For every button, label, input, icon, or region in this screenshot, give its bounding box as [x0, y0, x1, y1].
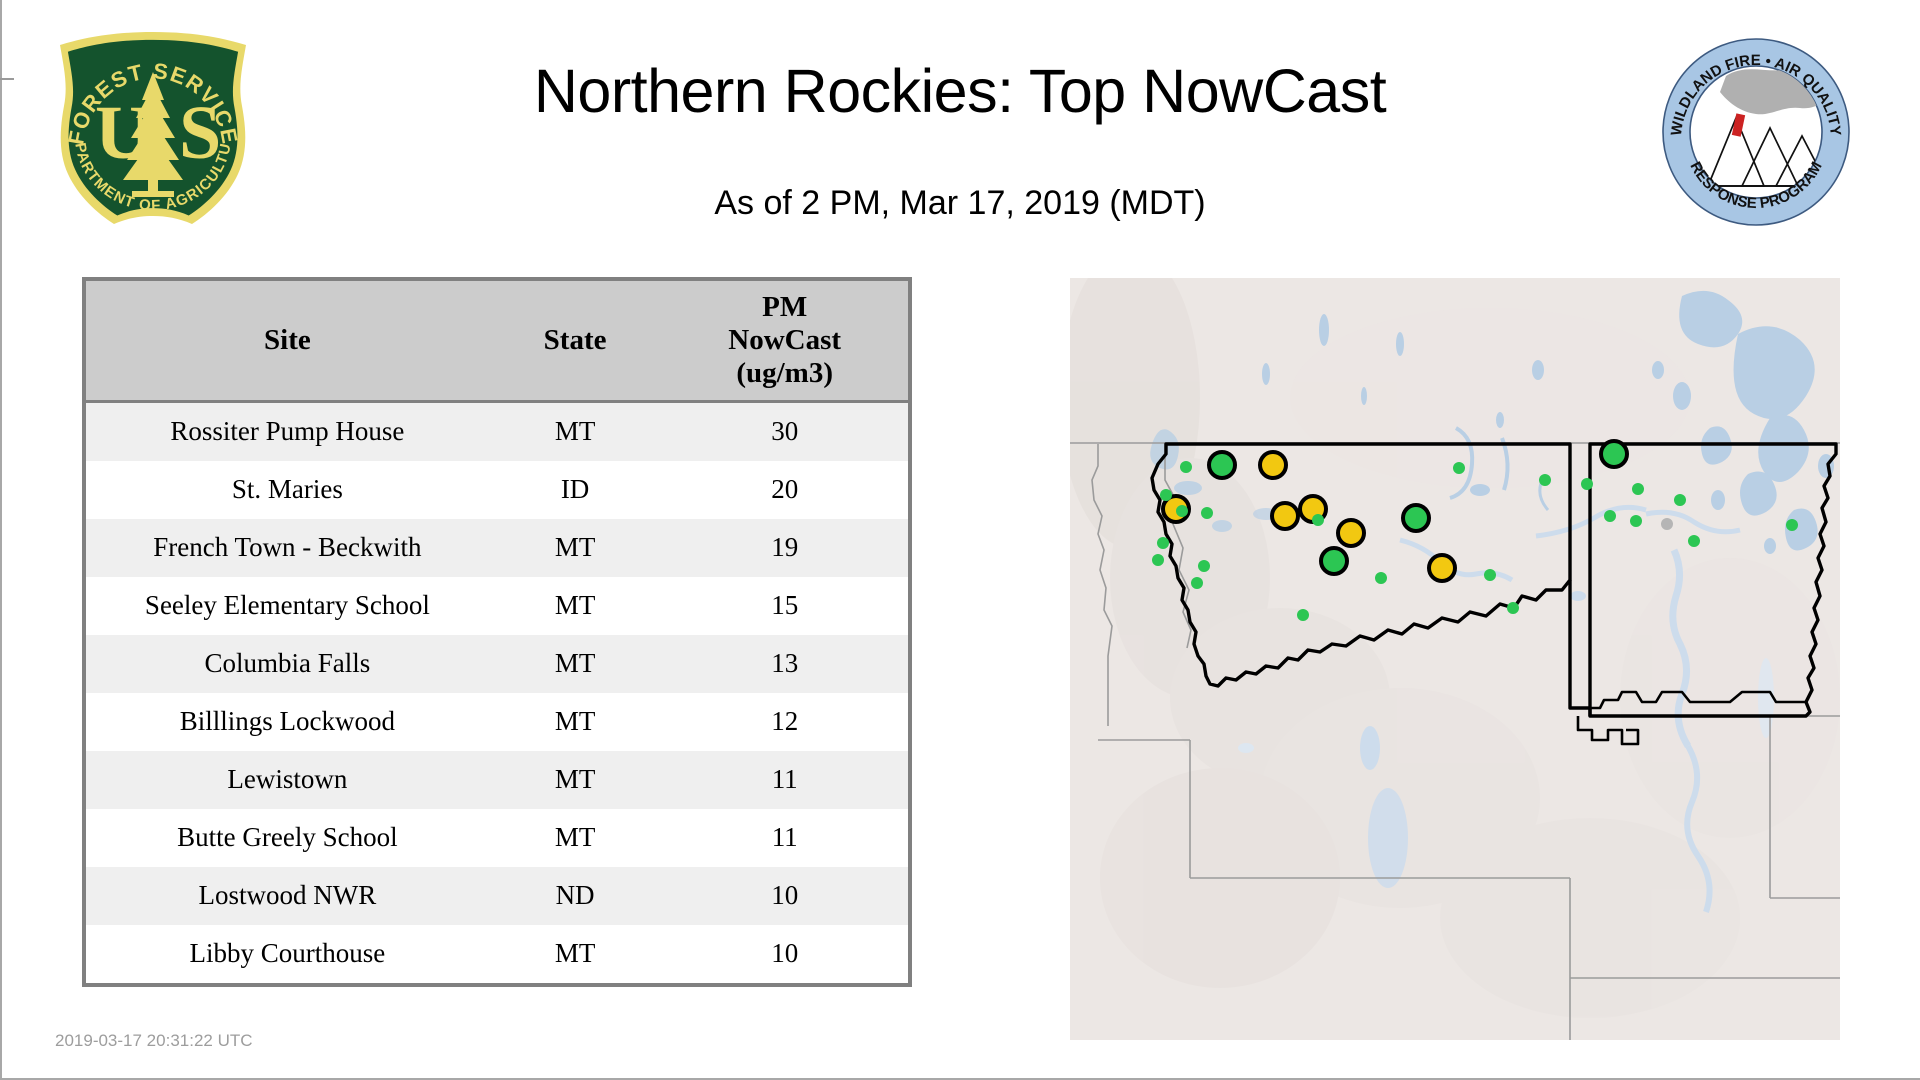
table-row: Lostwood NWRND10	[86, 867, 908, 925]
map-sensor-dot-small[interactable]	[1201, 507, 1213, 519]
column-header-pm-nowcast: PM NowCast (ug/m3)	[661, 281, 908, 401]
table-cell-state: MT	[489, 925, 662, 983]
table-cell-site: French Town - Beckwith	[86, 519, 489, 577]
table-cell-state: ID	[489, 461, 662, 519]
footer-timestamp: 2019-03-17 20:31:22 UTC	[55, 1031, 253, 1051]
map-sensor-dot-small[interactable]	[1688, 535, 1700, 547]
table-cell-state: MT	[489, 751, 662, 809]
map-panel[interactable]	[1070, 278, 1840, 1040]
map-monitor-marker-large[interactable]	[1260, 452, 1286, 478]
map-monitor-marker-large[interactable]	[1321, 548, 1347, 574]
table-cell-value: 19	[661, 519, 908, 577]
table-cell-site: Rossiter Pump House	[86, 401, 489, 461]
table-cell-site: Billlings Lockwood	[86, 693, 489, 751]
table-row: Rossiter Pump HouseMT30	[86, 401, 908, 461]
map-sensor-dot-small[interactable]	[1375, 572, 1387, 584]
table-cell-state: MT	[489, 635, 662, 693]
map-monitor-marker-large[interactable]	[1429, 555, 1455, 581]
table-cell-site: Butte Greely School	[86, 809, 489, 867]
table-cell-value: 30	[661, 401, 908, 461]
nowcast-table-container: Site State PM NowCast (ug/m3) Rossiter P…	[82, 277, 912, 987]
map-sensor-dot-small[interactable]	[1180, 461, 1192, 473]
table-row: LewistownMT11	[86, 751, 908, 809]
table-cell-value: 10	[661, 925, 908, 983]
table-cell-value: 20	[661, 461, 908, 519]
map-sensor-dot-small[interactable]	[1453, 462, 1465, 474]
map-sensor-dot-small[interactable]	[1152, 554, 1164, 566]
map-sensor-dot-small[interactable]	[1484, 569, 1496, 581]
table-header: Site State PM NowCast (ug/m3)	[86, 281, 908, 401]
map-sensor-dot-small[interactable]	[1786, 519, 1798, 531]
page-border-left	[0, 0, 2, 1080]
map-svg[interactable]	[1070, 278, 1840, 1040]
page-edge-tick	[0, 78, 14, 80]
map-sensor-dot-small[interactable]	[1604, 510, 1616, 522]
map-monitor-marker-large[interactable]	[1209, 452, 1235, 478]
table-cell-value: 15	[661, 577, 908, 635]
map-monitor-marker-large[interactable]	[1601, 441, 1627, 467]
table-header-row: Site State PM NowCast (ug/m3)	[86, 281, 908, 401]
table-cell-value: 10	[661, 867, 908, 925]
map-sensor-dot-small[interactable]	[1157, 537, 1169, 549]
map-sensor-dot-small[interactable]	[1160, 489, 1172, 501]
page-subtitle: As of 2 PM, Mar 17, 2019 (MDT)	[300, 184, 1620, 223]
table-cell-value: 11	[661, 751, 908, 809]
map-sensor-dot-small[interactable]	[1176, 505, 1188, 517]
map-sensor-dot-small[interactable]	[1297, 609, 1309, 621]
table-cell-value: 11	[661, 809, 908, 867]
map-monitor-marker-large[interactable]	[1403, 505, 1429, 531]
map-sensor-dot-small[interactable]	[1191, 577, 1203, 589]
table-body: Rossiter Pump HouseMT30St. MariesID20Fre…	[86, 401, 908, 983]
usda-forest-service-shield-logo: FOREST SERVICE DEPARTMENT OF AGRICULTURE…	[48, 28, 258, 233]
nowcast-table: Site State PM NowCast (ug/m3) Rossiter P…	[86, 281, 908, 983]
table-cell-site: Libby Courthouse	[86, 925, 489, 983]
fs-logo-letter-s: S	[179, 91, 221, 175]
table-row: Butte Greely SchoolMT11	[86, 809, 908, 867]
table-row: Seeley Elementary SchoolMT15	[86, 577, 908, 635]
column-header-site: Site	[86, 281, 489, 401]
wildland-fire-air-quality-logo: WILDLAND FIRE • AIR QUALITY RESPONSE PRO…	[1660, 36, 1852, 228]
table-cell-state: MT	[489, 693, 662, 751]
table-cell-state: ND	[489, 867, 662, 925]
table-cell-site: Lostwood NWR	[86, 867, 489, 925]
column-header-state: State	[489, 281, 662, 401]
map-sensor-dot-small[interactable]	[1198, 560, 1210, 572]
table-cell-state: MT	[489, 809, 662, 867]
table-cell-site: Columbia Falls	[86, 635, 489, 693]
map-sensor-dot-small[interactable]	[1674, 494, 1686, 506]
table-cell-site: St. Maries	[86, 461, 489, 519]
column-header-pm-line1: PM	[665, 291, 904, 324]
table-row: Billlings LockwoodMT12	[86, 693, 908, 751]
table-row: Columbia FallsMT13	[86, 635, 908, 693]
column-header-pm-line3: (ug/m3)	[665, 357, 904, 390]
table-row: French Town - BeckwithMT19	[86, 519, 908, 577]
map-sensor-dot-small[interactable]	[1539, 474, 1551, 486]
map-monitor-marker-large[interactable]	[1338, 520, 1364, 546]
table-row: Libby CourthouseMT10	[86, 925, 908, 983]
map-sensor-dot-small[interactable]	[1581, 478, 1593, 490]
map-sensor-dot-small[interactable]	[1661, 518, 1673, 530]
map-monitor-marker-large[interactable]	[1272, 503, 1298, 529]
table-cell-site: Lewistown	[86, 751, 489, 809]
table-cell-state: MT	[489, 577, 662, 635]
map-sensor-dot-small[interactable]	[1312, 514, 1324, 526]
table-cell-value: 13	[661, 635, 908, 693]
table-cell-state: MT	[489, 519, 662, 577]
table-cell-state: MT	[489, 401, 662, 461]
table-row: St. MariesID20	[86, 461, 908, 519]
page-title: Northern Rockies: Top NowCast	[300, 58, 1620, 125]
map-sensor-dot-small[interactable]	[1630, 515, 1642, 527]
table-cell-site: Seeley Elementary School	[86, 577, 489, 635]
column-header-pm-line2: NowCast	[665, 324, 904, 357]
table-cell-value: 12	[661, 693, 908, 751]
map-sensor-dot-small[interactable]	[1507, 602, 1519, 614]
map-sensor-dot-small[interactable]	[1632, 483, 1644, 495]
